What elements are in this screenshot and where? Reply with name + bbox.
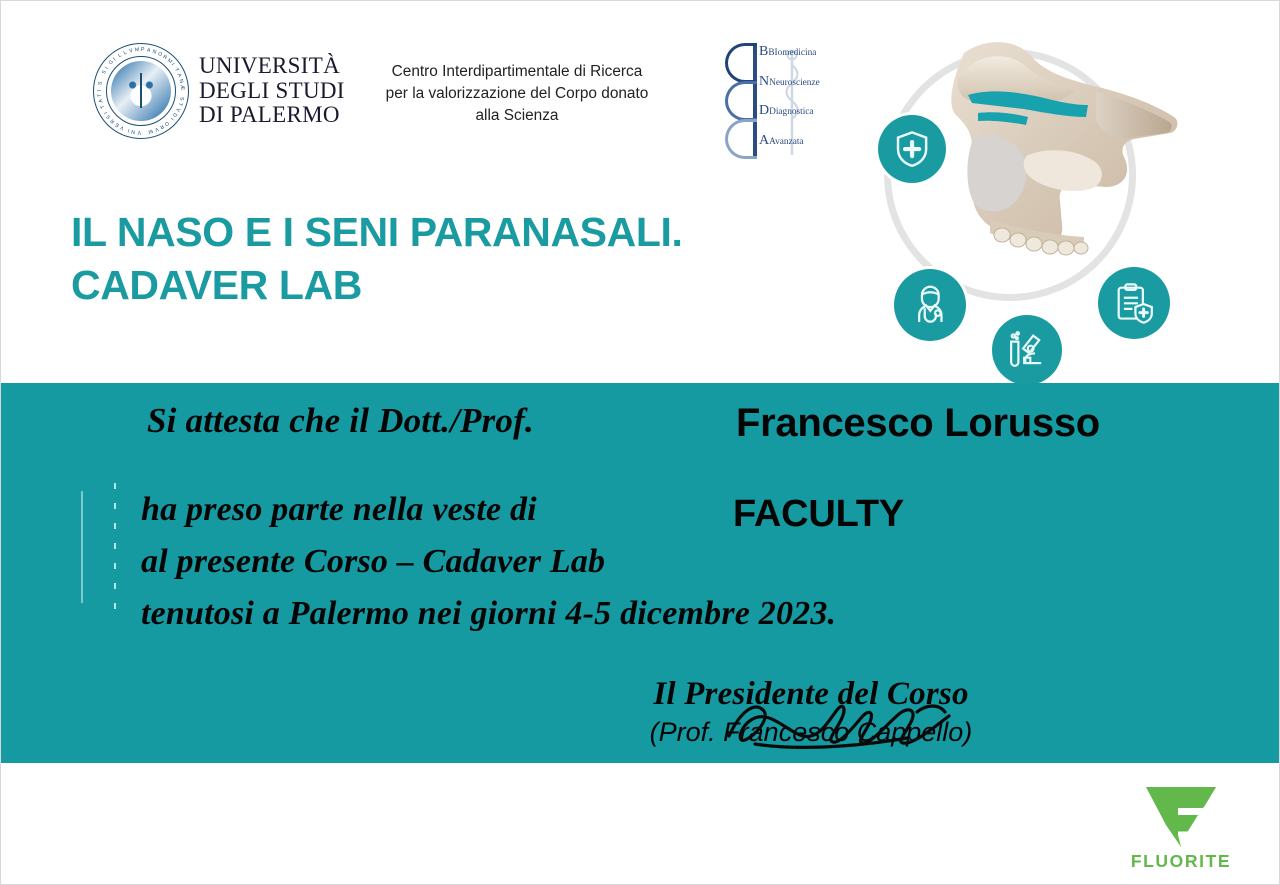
role-prefix-text: ha preso parte nella veste di	[141, 491, 537, 529]
university-name-line-1: UNIVERSITÀ	[199, 54, 345, 79]
bind-line-3: DDiagnostica	[759, 104, 845, 118]
university-logo: PANORMITANÆ STVDIORVM VNIVERSITATIS SIGI…	[93, 43, 345, 139]
bind-wordmark: BBIomedicina NNeuroscienze DDiagnostica …	[759, 45, 845, 163]
signature-name: (Prof. Francesco Cappello)	[601, 719, 1021, 746]
bind-b-mark-icon	[723, 43, 763, 159]
university-name: UNIVERSITÀ DEGLI STUDI DI PALERMO	[199, 54, 345, 128]
page-title-line-1: IL NASO E I SENI PARANASALI.	[71, 206, 682, 259]
hero-graphic	[856, 19, 1226, 379]
research-center-line-3: alla Scienza	[341, 105, 693, 127]
bind-line-4: AAvanzata	[759, 134, 845, 148]
university-seal-icon: PANORMITANÆ STVDIORVM VNIVERSITATIS SIGI…	[93, 43, 189, 139]
recipient-name: Francesco Lorusso	[736, 401, 1100, 446]
research-center-line-1: Centro Interdipartimentale di Ricerca	[341, 61, 693, 83]
skull-specimen-image	[928, 27, 1198, 282]
certificate-footer: FLUORITE	[1, 763, 1279, 884]
date-line: tenutosi a Palermo nei giorni 4-5 dicemb…	[141, 595, 836, 633]
bind-line-2: NNeuroscienze	[759, 75, 845, 89]
bind-department-logo: BBIomedicina NNeuroscienze DDiagnostica …	[723, 41, 839, 165]
f-shield-icon	[1144, 785, 1218, 847]
attestation-prefix: Si attesta che il Dott./Prof.	[147, 401, 534, 441]
microscope-icon	[992, 315, 1062, 385]
body-dotted-rule	[114, 483, 116, 613]
role-value: FACULTY	[733, 493, 904, 536]
university-name-line-2: DEGLI STUDI	[199, 79, 345, 104]
page-title-line-2: CADAVER LAB	[71, 259, 682, 312]
fluorite-wordmark: FLUORITE	[1125, 851, 1237, 872]
course-line: al presente Corso – Cadaver Lab	[141, 543, 605, 581]
fluorite-logo: FLUORITE	[1125, 785, 1237, 872]
signature-title: Il Presidente del Corso	[601, 678, 1021, 711]
doctor-icon	[894, 269, 966, 341]
signature-block: Il Presidente del Corso (Prof. Francesco…	[601, 678, 1021, 746]
certificate-header: PANORMITANÆ STVDIORVM VNIVERSITATIS SIGI…	[1, 1, 1279, 383]
research-center-line-2: per la valorizzazione del Corpo donato	[341, 83, 693, 105]
body-left-rule	[81, 491, 83, 603]
bind-line-1: BBIomedicina	[759, 45, 845, 59]
research-center-name: Centro Interdipartimentale di Ricerca pe…	[341, 61, 693, 127]
shield-cross-icon	[878, 115, 946, 183]
seal-motto-text: PANORMITANÆ STVDIORVM VNIVERSITATIS SIGI…	[95, 45, 187, 137]
clipboard-shield-icon	[1098, 267, 1170, 339]
page-title: IL NASO E I SENI PARANASALI. CADAVER LAB	[71, 206, 682, 313]
university-name-line-3: DI PALERMO	[199, 103, 345, 128]
certificate-body: Si attesta che il Dott./Prof. Francesco …	[1, 383, 1279, 763]
